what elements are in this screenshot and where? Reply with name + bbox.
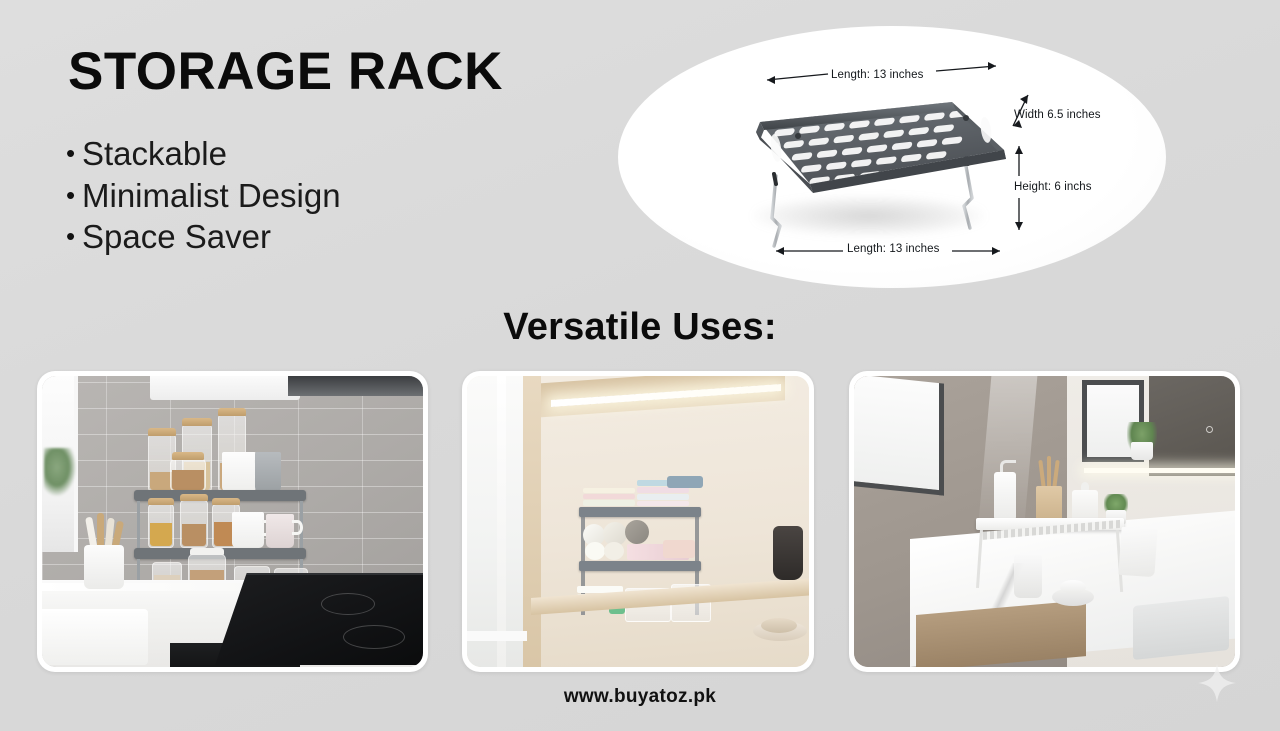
folded-linen: [663, 540, 695, 558]
jar-contents: [182, 524, 206, 546]
glass-jar: [1014, 554, 1042, 598]
brush: [1047, 456, 1051, 488]
bathroom-window-left: [854, 376, 944, 496]
closet-photo: [467, 376, 809, 667]
closet-bowl: [761, 618, 797, 633]
feature-list: • Stackable • Minimalist Design • Space …: [66, 133, 341, 258]
folded-linen: [637, 494, 689, 500]
jar-lid: [180, 494, 208, 501]
kitchen-jar: [148, 504, 174, 548]
brush-cup: [1036, 486, 1062, 522]
feature-item-minimalist-design: • Minimalist Design: [66, 175, 341, 217]
kitchen-jar: [170, 458, 206, 492]
cooktop-burner: [321, 593, 375, 615]
folded-linen: [667, 476, 703, 488]
dimension-label-length-top: Length: 13 inches: [831, 69, 924, 81]
folded-linen: [583, 494, 635, 499]
folded-linen: [583, 488, 635, 493]
sparkle-icon: [1196, 662, 1238, 704]
feature-label: Stackable: [82, 133, 227, 175]
bathroom-led-strip: [1084, 468, 1235, 473]
bullet-icon: •: [66, 223, 82, 249]
storage-rack-illustration: [714, 78, 1034, 258]
feature-item-space-saver: • Space Saver: [66, 216, 341, 258]
kitchen-mug: [222, 452, 256, 492]
closet-window-frame: [497, 376, 506, 667]
rolled-towel: [604, 542, 624, 560]
jar-lid: [212, 498, 240, 505]
dimension-label-height: Height: 6 inchs: [1014, 181, 1092, 193]
closet-vase: [773, 526, 803, 580]
jar-lid: [190, 548, 224, 555]
product-image: [714, 78, 1034, 258]
dimension-label-width: Width 6.5 inches: [1014, 109, 1101, 121]
jar-lid: [172, 452, 204, 460]
feature-label: Minimalist Design: [82, 175, 341, 217]
soap-dispenser: [994, 472, 1016, 520]
use-case-card-bathroom: [849, 371, 1240, 672]
jar-contents: [150, 523, 172, 546]
jar-lid: [148, 498, 174, 505]
jar-contents: [172, 470, 204, 490]
bullet-icon: •: [66, 182, 82, 208]
bathroom-sink: [1133, 596, 1229, 660]
kitchen-mug: [255, 452, 281, 492]
kitchen-utensil-holder: [84, 545, 124, 589]
mug-handle: [292, 520, 303, 535]
kitchen-mug: [266, 514, 294, 548]
closet-window-sill: [467, 631, 527, 641]
rolled-towel: [585, 542, 605, 560]
bathroom-mirror: [1149, 376, 1235, 476]
rack-leg: [695, 517, 699, 561]
kitchen-photo: [42, 376, 423, 667]
jar-lid: [182, 418, 212, 426]
closet-window: [467, 376, 523, 667]
plant-pot: [1131, 442, 1153, 460]
product-banner: STORAGE RACK • Stackable • Minimalist De…: [0, 0, 1280, 731]
kitchen-range-hood: [288, 376, 423, 396]
jar-lid: [218, 408, 246, 416]
feature-item-stackable: • Stackable: [66, 133, 341, 175]
section-heading-versatile-uses: Versatile Uses:: [0, 306, 1280, 349]
use-case-card-closet: [462, 371, 814, 672]
mirror-light-dot: [1206, 426, 1213, 433]
hanging-towel: [1118, 527, 1157, 577]
rack-leg: [137, 501, 140, 549]
kitchen-sink: [42, 609, 148, 665]
soap-bar: [1060, 580, 1086, 594]
footer-website-url: www.buyatoz.pk: [0, 686, 1280, 708]
bullet-icon: •: [66, 140, 82, 166]
bathroom-photo: [854, 376, 1235, 667]
page-title: STORAGE RACK: [68, 44, 503, 100]
closet-rack-lower: [579, 561, 701, 571]
rolled-towel: [625, 520, 649, 544]
dimension-label-length-bottom: Length: 13 inches: [847, 243, 940, 255]
kitchen-upper-cabinet: [150, 376, 300, 400]
folded-linen: [637, 501, 689, 506]
folded-linen: [583, 500, 635, 506]
kitchen-plant: [44, 448, 76, 496]
cooktop-burner: [343, 625, 405, 649]
jar-lid: [148, 428, 176, 436]
use-case-card-kitchen: [37, 371, 428, 672]
kitchen-mug: [232, 512, 264, 548]
kitchen-cooktop: [215, 573, 423, 665]
kitchen-jar: [180, 500, 208, 548]
feature-label: Space Saver: [82, 216, 271, 258]
closet-rack-upper: [579, 507, 701, 517]
